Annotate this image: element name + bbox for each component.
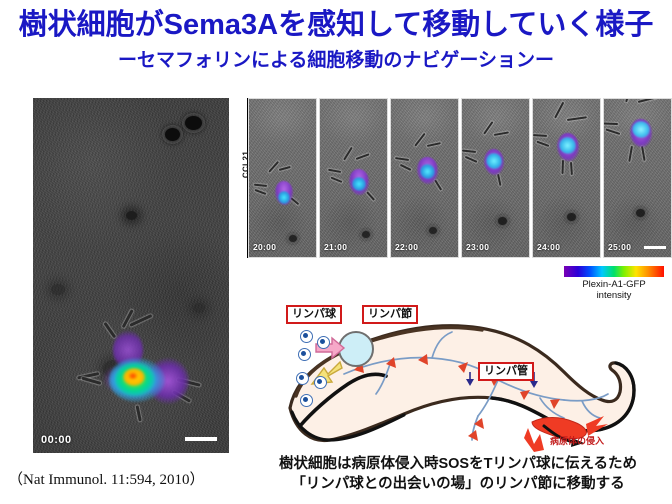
- lymphocyte-cell: [314, 376, 327, 389]
- dark-blob: [126, 211, 137, 220]
- dark-blob: [51, 284, 65, 295]
- dendritic-cell: [265, 167, 299, 209]
- dark-spot: [362, 231, 370, 238]
- timelapse-frame: 24:00: [532, 98, 601, 258]
- cell-process: [279, 166, 291, 171]
- main-microscopy-image: 00:00: [33, 98, 229, 453]
- cell-process: [494, 131, 509, 136]
- dendritic-cell: [340, 157, 374, 199]
- intensity-legend: Plexin-A1-GFP intensity: [562, 266, 666, 301]
- dark-blob: [185, 116, 202, 130]
- gfp-signal-max: [128, 372, 138, 380]
- dendritic-cell: [622, 101, 656, 143]
- dendritic-cell: [476, 131, 510, 173]
- dark-spot: [429, 227, 437, 234]
- lymphocyte-cell: [296, 372, 309, 385]
- scale-bar: [185, 437, 217, 441]
- lymphocyte-cell: [298, 348, 311, 361]
- legend-label-line1: Plexin-A1-GFP: [562, 279, 666, 290]
- frame-timestamp: 25:00: [608, 242, 631, 252]
- lymphocyte-cell: [300, 330, 313, 343]
- scale-bar: [644, 246, 666, 249]
- dark-spot: [567, 213, 576, 221]
- timelapse-strip: 20:00 21:00 22:00: [248, 98, 672, 258]
- lymphatic-anatomy-diagram: リンパ球 リンパ節 リンパ管 病原体の侵入: [282, 300, 672, 455]
- cell-process: [103, 322, 116, 338]
- frame-timestamp: 22:00: [395, 242, 418, 252]
- dark-spot: [636, 209, 645, 217]
- page-title: 樹状細胞がSema3Aを感知して移動していく様子: [0, 10, 672, 40]
- lymphocyte-cell: [317, 336, 330, 349]
- bottom-caption: 樹状細胞は病原体侵入時SOSをTリンパ球に伝えるため 「リンパ球との出会いの場」…: [244, 455, 672, 494]
- gfp-high: [352, 177, 366, 191]
- dendritic-cell: [549, 117, 583, 159]
- frame-timestamp: 21:00: [324, 242, 347, 252]
- cell-process: [81, 377, 101, 385]
- gfp-high: [278, 191, 290, 204]
- timelapse-frame: 25:00: [603, 98, 672, 258]
- label-lymphocyte: リンパ球: [286, 305, 342, 324]
- dark-blob: [165, 128, 180, 141]
- main-timestamp: 00:00: [41, 434, 72, 446]
- lymphocyte-cell: [300, 394, 313, 407]
- citation-text: （Nat Immunol. 11:594, 2010）: [8, 468, 205, 489]
- caption-line-2: 「リンパ球との出会いの場」のリンパ節に移動する: [244, 475, 672, 495]
- timelapse-frame: 20:00: [248, 98, 317, 258]
- frame-timestamp: 23:00: [466, 242, 489, 252]
- dark-spot: [498, 217, 507, 225]
- gfp-high: [486, 153, 502, 169]
- intensity-colorbar: [564, 266, 664, 277]
- timelapse-frame: 21:00: [319, 98, 388, 258]
- gfp-high: [420, 164, 435, 179]
- frame-timestamp: 20:00: [253, 242, 276, 252]
- label-lymph-node: リンパ節: [362, 305, 418, 324]
- title-block: 樹状細胞がSema3Aを感知して移動していく様子 ーセマフォリンによる細胞移動の…: [0, 10, 672, 72]
- label-lymph-vessel: リンパ管: [478, 362, 534, 381]
- frame-timestamp: 24:00: [537, 242, 560, 252]
- gfp-high: [632, 121, 650, 138]
- cell-process: [427, 142, 441, 147]
- page-subtitle: ーセマフォリンによる細胞移動のナビゲーションー: [0, 45, 672, 72]
- caption-line-1: 樹状細胞は病原体侵入時SOSをTリンパ球に伝えるため: [244, 455, 672, 475]
- dark-spot: [289, 235, 297, 242]
- frame-grain: [462, 99, 529, 257]
- timelapse-frame: 22:00: [390, 98, 459, 258]
- timelapse-frame: 23:00: [461, 98, 530, 258]
- dendritic-cell: [409, 143, 443, 185]
- dendritic-cell-fluorescence: [85, 320, 200, 415]
- lymph-node-circle: [339, 332, 373, 366]
- dark-blob: [193, 303, 205, 313]
- label-pathogen-invasion: 病原体の侵入: [550, 434, 604, 447]
- gfp-high: [559, 137, 576, 154]
